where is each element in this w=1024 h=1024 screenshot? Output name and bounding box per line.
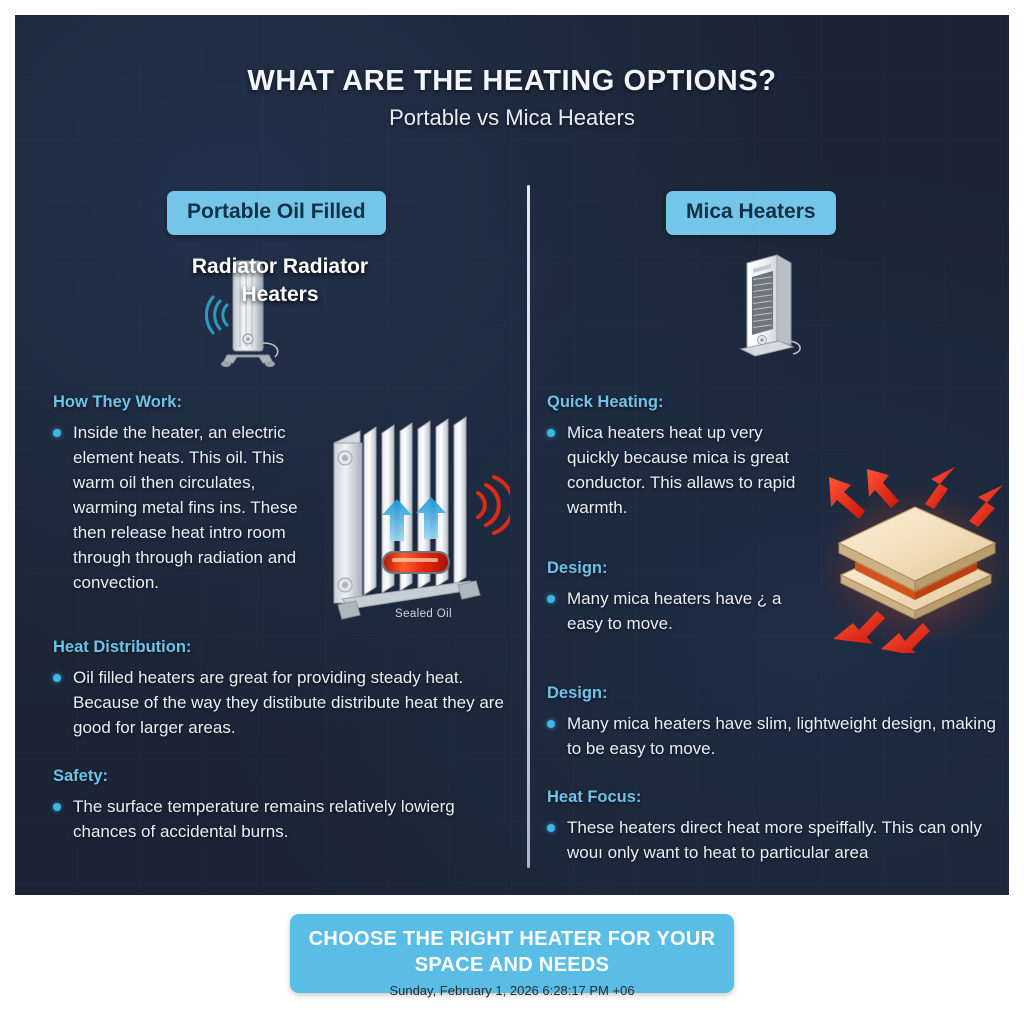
section-heading: Heat Distribution:	[53, 638, 508, 657]
bullet-text: Mica heaters heat up very quickly becaus…	[567, 423, 795, 517]
section-heading: How They Work:	[53, 393, 508, 412]
bullet-text: These heaters direct heat more speiffall…	[567, 818, 982, 862]
bullet-item: Many mica heaters have ¿ a easy to move.	[547, 587, 809, 637]
section-design: Design: Many mica heaters have slim, lig…	[547, 684, 1009, 762]
section-heading: Heat Focus:	[547, 788, 1009, 807]
bullet-text: Inside the heater, an electric element h…	[73, 423, 298, 592]
section-heat-focus: Heat Focus: These heaters direct heat mo…	[547, 788, 1009, 866]
infographic-canvas: WHAT ARE THE HEATING OPTIONS? Portable v…	[0, 0, 1024, 1024]
page-subtitle: Portable vs Mica Heaters	[15, 105, 1009, 131]
bullet-text: The surface temperature remains relative…	[73, 797, 455, 841]
bullet-dot-icon	[547, 595, 555, 603]
section-heat-distribution: Heat Distribution: Oil filled heaters ar…	[53, 638, 508, 741]
column-divider	[527, 185, 530, 868]
bullet-item: The surface temperature remains relative…	[53, 795, 508, 845]
bullet-item: These heaters direct heat more speiffall…	[547, 816, 1009, 866]
bullet-dot-icon	[547, 429, 555, 437]
badge-portable-oil-filled[interactable]: Portable Oil Filled	[167, 191, 386, 235]
section-safety: Safety: The surface temperature remains …	[53, 767, 508, 845]
mica-heater-icon	[727, 241, 809, 361]
section-heading: Design:	[547, 684, 1009, 703]
sealed-oil-label: Sealed Oil	[395, 608, 452, 620]
cta-banner[interactable]: CHOOSE THE RIGHT HEATER FOR YOUR SPACE A…	[290, 914, 734, 993]
bullet-dot-icon	[547, 824, 555, 832]
bullet-dot-icon	[53, 674, 61, 682]
bullet-item: Many mica heaters have slim, lightweight…	[547, 712, 1009, 762]
bullet-text: Oil filled heaters are great for providi…	[73, 668, 504, 737]
bullet-text: Many mica heaters have slim, lightweight…	[567, 714, 996, 758]
bullet-text: Many mica heaters have ¿ a easy to move.	[567, 589, 781, 633]
bullet-item: Mica heaters heat up very quickly becaus…	[547, 421, 809, 521]
bullet-dot-icon	[53, 803, 61, 811]
mica-panel-illustration	[815, 463, 1009, 653]
page-title: WHAT ARE THE HEATING OPTIONS?	[15, 65, 1009, 98]
badge-mica-heaters[interactable]: Mica Heaters	[666, 191, 836, 235]
infographic-panel: WHAT ARE THE HEATING OPTIONS? Portable v…	[15, 15, 1009, 895]
bullet-item: Inside the heater, an electric element h…	[53, 421, 315, 596]
bullet-dot-icon	[53, 429, 61, 437]
section-heading: Quick Heating:	[547, 393, 1009, 412]
timestamp: Sunday, February 1, 2026 6:28:17 PM +06	[0, 983, 1024, 998]
bullet-item: Oil filled heaters are great for providi…	[53, 666, 508, 741]
oil-heater-icon	[201, 251, 287, 371]
oil-radiator-illustration	[320, 413, 510, 635]
bullet-dot-icon	[547, 720, 555, 728]
section-heading: Safety:	[53, 767, 508, 786]
